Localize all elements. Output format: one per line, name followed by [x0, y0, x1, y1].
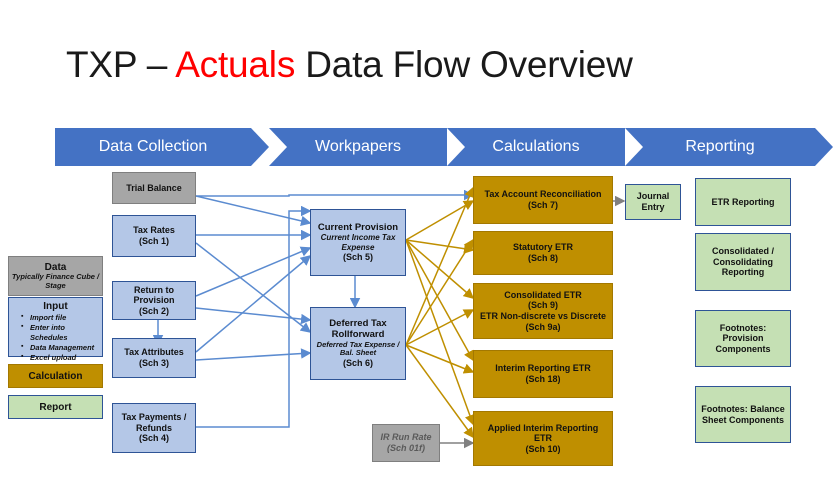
node-ir-run-rate[interactable]: IR Run Rate (Sch 01f): [372, 424, 440, 462]
node-line-2: Current Income Tax: [321, 233, 396, 242]
node-trial-balance[interactable]: Trial Balance: [112, 172, 196, 204]
node-line-1: Statutory ETR: [513, 242, 573, 253]
node-line-3: Reporting: [722, 267, 765, 278]
node-line-1: Journal: [637, 191, 670, 202]
node-line-2: Rollforward: [332, 329, 385, 340]
legend-input-bullet: Excel upload: [21, 353, 102, 363]
node-line-2: Consolidating: [713, 257, 773, 268]
node-line-2: ETR: [534, 433, 552, 444]
node-line-2: Sheet Components: [702, 415, 784, 426]
node-statutory-etr[interactable]: Statutory ETR (Sch 8): [473, 231, 613, 275]
legend-item-input: Input Import file Enter into Schedules D…: [8, 297, 103, 357]
slide-canvas: TXP – Actuals Data Flow Overview Data Co…: [0, 0, 833, 486]
legend-input-title: Input: [9, 301, 102, 312]
node-line-2: (Sch 9): [528, 300, 558, 311]
node-line-1: Trial Balance: [126, 183, 182, 194]
node-line-2: (Sch 8): [528, 253, 558, 264]
node-line-3: Expense: [342, 243, 375, 252]
node-tax-payments-refunds[interactable]: Tax Payments / Refunds (Sch 4): [112, 403, 196, 453]
legend-input-bullet: Data Management: [21, 343, 102, 353]
node-etr-reporting[interactable]: ETR Reporting: [695, 178, 791, 226]
node-line-1: Tax Rates: [133, 225, 175, 236]
legend-data-subtitle: Typically Finance Cube / Stage: [9, 273, 102, 290]
node-current-provision[interactable]: Current Provision Current Income Tax Exp…: [310, 209, 406, 276]
node-line-1: Applied Interim Reporting: [488, 423, 599, 434]
node-line-3: (Sch 10): [525, 444, 560, 455]
node-deferred-tax-rollforward[interactable]: Deferred Tax Rollforward Deferred Tax Ex…: [310, 307, 406, 380]
node-line-1: Consolidated ETR: [504, 290, 582, 301]
node-line-1: Footnotes:: [720, 323, 767, 334]
legend-input-bullet: Import file: [21, 313, 102, 323]
node-tax-account-reconciliation[interactable]: Tax Account Reconciliation (Sch 7): [473, 176, 613, 224]
node-line-2: Refunds: [136, 423, 172, 434]
node-line-1: Consolidated /: [712, 246, 774, 257]
node-applied-interim-reporting-etr[interactable]: Applied Interim Reporting ETR (Sch 10): [473, 411, 613, 466]
node-line-4: (Sch 9a): [525, 322, 560, 333]
node-journal-entry[interactable]: Journal Entry: [625, 184, 681, 220]
node-line-4: Bal. Sheet: [340, 349, 376, 358]
node-line-1: Interim Reporting ETR: [495, 363, 591, 374]
node-line-1: Current Provision: [318, 222, 398, 233]
legend-item-data: Data Typically Finance Cube / Stage: [8, 256, 103, 296]
node-line-3: (Sch 4): [139, 433, 169, 444]
legend-input-bullet: Enter into Schedules: [21, 323, 102, 343]
node-line-2: (Sch 1): [139, 236, 169, 247]
node-tax-rates[interactable]: Tax Rates (Sch 1): [112, 215, 196, 257]
node-line-4: (Sch 5): [343, 252, 373, 263]
node-line-2: (Sch 18): [525, 374, 560, 385]
node-return-to-provision[interactable]: Return to Provision (Sch 2): [112, 281, 196, 320]
node-interim-reporting-etr[interactable]: Interim Reporting ETR (Sch 18): [473, 350, 613, 398]
node-line-1: Deferred Tax: [329, 318, 386, 329]
node-line-2: (Sch 2): [139, 306, 169, 317]
node-line-1: Footnotes: Balance: [701, 404, 785, 415]
legend-item-calculation: Calculation: [8, 364, 103, 388]
node-line-2: (Sch 01f): [387, 443, 425, 454]
node-line-1: Return to Provision: [113, 285, 195, 306]
node-line-1: ETR Reporting: [712, 197, 775, 208]
node-line-1: Tax Payments /: [122, 412, 187, 423]
node-line-2: Entry: [641, 202, 664, 213]
node-consolidated-etr[interactable]: Consolidated ETR (Sch 9) ETR Non-discret…: [473, 283, 613, 339]
node-line-2: (Sch 7): [528, 200, 558, 211]
node-line-1: Tax Attributes: [124, 347, 184, 358]
node-consolidated-consolidating-reporting[interactable]: Consolidated / Consolidating Reporting: [695, 233, 791, 291]
node-footnotes-balance-sheet-components[interactable]: Footnotes: Balance Sheet Components: [695, 386, 791, 443]
legend-calculation-title: Calculation: [29, 371, 83, 382]
legend-item-report: Report: [8, 395, 103, 419]
node-line-5: (Sch 6): [343, 358, 373, 369]
node-footnotes-provision-components[interactable]: Footnotes: Provision Components: [695, 310, 791, 367]
legend-input-bullet-list: Import file Enter into Schedules Data Ma…: [9, 313, 102, 362]
node-line-3: ETR Non-discrete vs Discrete: [480, 311, 606, 322]
node-line-1: IR Run Rate: [380, 432, 431, 443]
legend-report-title: Report: [39, 402, 71, 413]
node-line-3: Components: [716, 344, 771, 355]
node-tax-attributes[interactable]: Tax Attributes (Sch 3): [112, 338, 196, 378]
node-line-2: Provision: [722, 333, 763, 344]
node-line-1: Tax Account Reconciliation: [484, 189, 601, 200]
node-line-2: (Sch 3): [139, 358, 169, 369]
